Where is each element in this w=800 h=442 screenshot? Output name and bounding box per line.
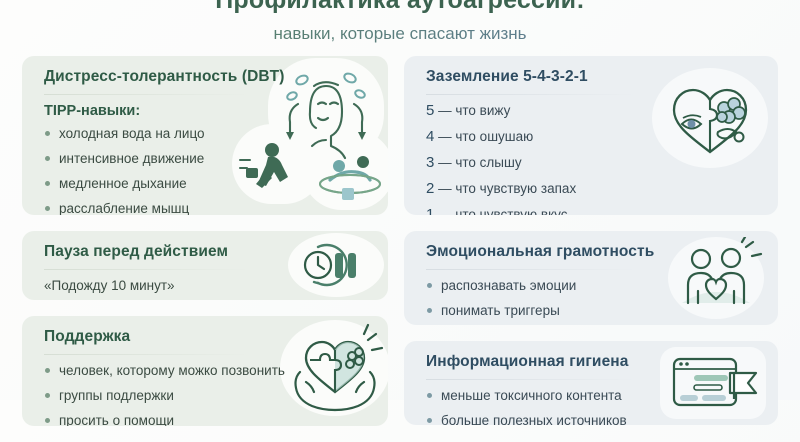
list-item: расслабление мышц xyxy=(44,201,374,215)
grounding-step-list: 5 — что вижу 4 — что ошушаю 3 — что слыш… xyxy=(426,103,764,215)
card-title: Информационная гигиена xyxy=(426,352,764,372)
card-emotional-literacy: Эмоциональная грамотность распознавать э… xyxy=(404,231,778,325)
card-pause-before-action: Пауза перед действием «Подожду 10 минут» xyxy=(22,231,388,300)
list-item: 1 — что чувствую вкус xyxy=(426,207,764,215)
card-title: Поддержка xyxy=(44,327,374,347)
left-column: Дистресс-толерантность (DBT) TIPP-навыки… xyxy=(22,56,388,442)
list-item: 3 — что слышу xyxy=(426,155,764,170)
list-item: понимать триггеры xyxy=(426,303,764,318)
card-distress-tolerance: Дистресс-толерантность (DBT) TIPP-навыки… xyxy=(22,56,388,215)
list-item: группы подлержки xyxy=(44,388,374,403)
list-item: 5 — что вижу xyxy=(426,103,764,118)
step-number: 3 xyxy=(426,154,434,171)
divider xyxy=(44,269,249,270)
step-number: 1 xyxy=(426,206,434,215)
divider xyxy=(426,269,636,270)
card-item-list: человек, которому можко позвонить группы… xyxy=(44,363,374,426)
divider xyxy=(426,379,636,380)
card-item-list: меньше токсичного контента больше полезн… xyxy=(426,388,764,425)
list-item: 2 — что чувствую запах xyxy=(426,181,764,196)
card-title: Дистресс-толерантность (DBT) xyxy=(44,67,374,87)
card-support: Поддержка человек, которому можко позвон… xyxy=(22,316,388,426)
infographic-header: Профилактика аутоагрессии: навыки, котор… xyxy=(0,0,800,46)
page-subtitle: навыки, которые спасают жизнь xyxy=(0,22,800,46)
list-item: 4 — что ошушаю xyxy=(426,129,764,144)
step-number: 2 xyxy=(426,180,434,197)
step-number: 4 xyxy=(426,128,434,145)
list-item: просить о помощи xyxy=(44,413,374,426)
card-information-hygiene: Информационная гигиена меньше токсичного… xyxy=(404,341,778,425)
step-text: — что слышу xyxy=(438,155,522,170)
right-column: Заземление 5-4-3-2-1 5 — что вижу 4 — чт… xyxy=(404,56,778,441)
list-item: меньше токсичного контента xyxy=(426,388,764,403)
step-text: — что чувствую запах xyxy=(438,181,576,196)
card-grounding-54321: Заземление 5-4-3-2-1 5 — что вижу 4 — чт… xyxy=(404,56,778,215)
step-text: — что чувствую вкус xyxy=(438,207,567,215)
divider xyxy=(426,94,636,95)
card-item-list: распознавать эмоции понимать триггеры ра… xyxy=(426,278,764,325)
list-item: медленное дыхание xyxy=(44,176,374,191)
divider xyxy=(44,354,249,355)
card-quote: «Подожду 10 минут» xyxy=(44,278,374,293)
list-item: больше полезных источников xyxy=(426,413,764,425)
card-subhead: TIPP-навыки: xyxy=(44,103,374,119)
card-title: Заземление 5-4-3-2-1 xyxy=(426,67,764,87)
list-item: человек, которому можко позвонить xyxy=(44,363,374,378)
card-title: Эмоциональная грамотность xyxy=(426,242,764,262)
step-text: — что ошушаю xyxy=(438,129,533,144)
card-title: Пауза перед действием xyxy=(44,242,374,262)
list-item: холодная вода на лицо xyxy=(44,126,374,141)
step-text: — что вижу xyxy=(438,103,510,118)
divider xyxy=(44,94,249,95)
list-item: распознавать эмоции xyxy=(426,278,764,293)
page-title: Профилактика аутоагрессии: xyxy=(0,0,800,16)
card-item-list: холодная вода на лицо интенсивное движен… xyxy=(44,126,374,215)
list-item: интенсивное движение xyxy=(44,151,374,166)
step-number: 5 xyxy=(426,102,434,119)
